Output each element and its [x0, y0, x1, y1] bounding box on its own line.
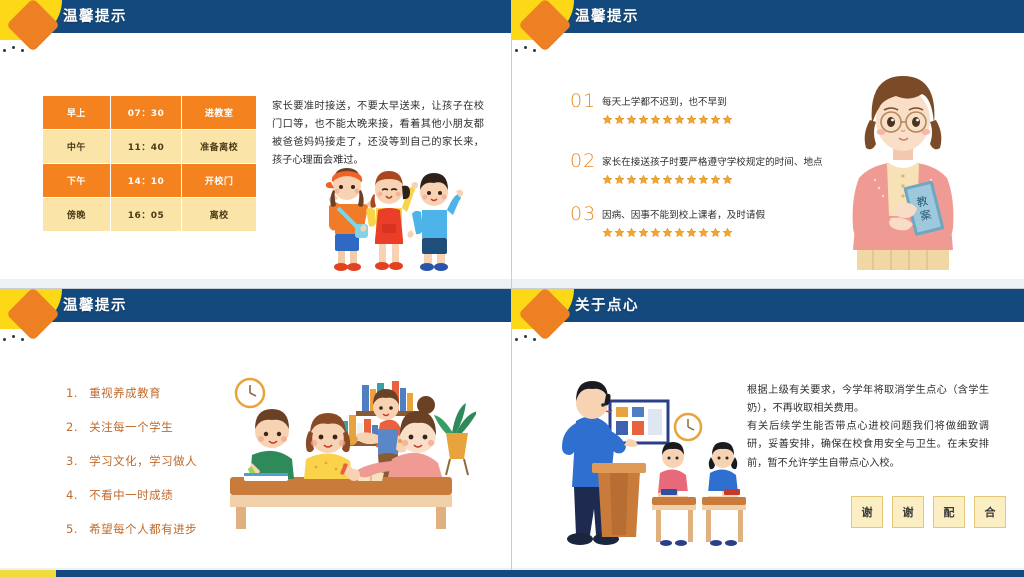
- table-row: 下午 14：10 开校门: [43, 164, 257, 198]
- list-item-number: 2.: [66, 420, 85, 434]
- cell-time: 16：05: [110, 198, 182, 232]
- cell-period: 下午: [43, 164, 111, 198]
- schedule-table: 早上 07：30 进教室 中午 11：40 准备离校 下午 14：10 开校门 …: [42, 95, 257, 232]
- snack-notice-paragraph: 根据上级有关要求，今学年将取消学生点心（含学生奶），不再收取相关费用。 有关后续…: [747, 382, 989, 473]
- strip-yellow-segment: [0, 570, 56, 577]
- cell-action: 离校: [182, 198, 257, 232]
- table-row: 中午 11：40 准备离校: [43, 130, 257, 164]
- header-dots-decoration: [3, 326, 30, 345]
- pickup-notice-paragraph: 家长要准时接送，不要太早送来，让孩子在校门口等，也不能太晚来接，看着其他小朋友都…: [272, 98, 484, 169]
- header-dots-decoration: [515, 326, 542, 345]
- list-item: 1. 重视养成教育: [66, 385, 197, 401]
- list-item-label: 不看中一时成绩: [89, 488, 173, 502]
- teacher-with-lesson-plan-illustration: 教 案: [843, 68, 963, 283]
- list-item-number: 1.: [66, 386, 85, 400]
- page-bottom-strip: [0, 570, 1024, 577]
- thanks-box: 配: [933, 496, 965, 528]
- thanks-boxes: 谢 谢 配 合: [851, 496, 1006, 528]
- slide-title: 温馨提示: [63, 294, 127, 315]
- list-item-number: 3.: [66, 454, 85, 468]
- cell-action: 开校门: [182, 164, 257, 198]
- star-row-03: [602, 224, 734, 240]
- thanks-box: 合: [974, 496, 1006, 528]
- cell-period: 早上: [43, 96, 111, 130]
- list-item: 3. 学习文化，学习做人: [66, 453, 197, 469]
- list-item-number: 4.: [66, 488, 85, 502]
- list-item-number: 5.: [66, 522, 85, 536]
- cell-period: 中午: [43, 130, 111, 164]
- thanks-box: 谢: [851, 496, 883, 528]
- rule-text: 每天上学都不迟到，也不早到: [602, 94, 727, 108]
- rule-number: 01: [570, 90, 596, 112]
- slide-education: 温馨提示 1. 重视养成教育 2. 关注每一个学生 3. 学习文化，学习做人 4…: [0, 289, 512, 577]
- rule-number: 02: [570, 150, 596, 172]
- teacher-lecturing-classroom-illustration: [548, 377, 753, 557]
- cell-time: 07：30: [110, 96, 182, 130]
- slide-footer-strip: [0, 279, 512, 288]
- star-row-01: [602, 111, 734, 127]
- cell-action: 进教室: [182, 96, 257, 130]
- slide-schedule: 温馨提示 早上 07：30 进教室 中午 11：40 准备离校 下午 14：10…: [0, 0, 512, 289]
- list-item: 2. 关注每一个学生: [66, 419, 197, 435]
- cell-time: 11：40: [110, 130, 182, 164]
- table-row: 早上 07：30 进教室: [43, 96, 257, 130]
- slide-title: 温馨提示: [63, 5, 127, 26]
- slide-footer-strip: [512, 279, 1024, 288]
- table-row: 傍晚 16：05 离校: [43, 198, 257, 232]
- list-item: 5. 希望每个人都有进步: [66, 521, 197, 537]
- slide-title: 温馨提示: [575, 5, 639, 26]
- teacher-and-students-studying-illustration: [228, 355, 476, 530]
- header-dots-decoration: [3, 37, 30, 56]
- list-item-label: 学习文化，学习做人: [89, 454, 197, 468]
- list-item-label: 希望每个人都有进步: [89, 522, 197, 536]
- three-children-illustration: [305, 160, 475, 275]
- cell-action: 准备离校: [182, 130, 257, 164]
- star-row-02: [602, 171, 734, 187]
- slide-snack: 关于点心 根据上级有关要求，今学年将取消学生点心（含学生奶），不再收取相关费用。…: [512, 289, 1024, 577]
- rule-text: 因病、因事不能到校上课者，及时请假: [602, 207, 765, 221]
- thanks-box: 谢: [892, 496, 924, 528]
- header-dots-decoration: [515, 37, 542, 56]
- rule-text: 家长在接送孩子时要严格遵守学校规定的时间、地点: [602, 154, 823, 168]
- cell-time: 14：10: [110, 164, 182, 198]
- education-list: 1. 重视养成教育 2. 关注每一个学生 3. 学习文化，学习做人 4. 不看中…: [66, 385, 197, 555]
- rule-number: 03: [570, 203, 596, 225]
- slide-deck: 温馨提示 早上 07：30 进教室 中午 11：40 准备离校 下午 14：10…: [0, 0, 1024, 577]
- slide-title: 关于点心: [575, 294, 639, 315]
- list-item-label: 重视养成教育: [89, 386, 161, 400]
- list-item: 4. 不看中一时成绩: [66, 487, 197, 503]
- slide-rules: 温馨提示 01 每天上学都不迟到，也不早到 02 家长在接送孩子时要严格遵守学校…: [512, 0, 1024, 289]
- list-item-label: 关注每一个学生: [89, 420, 173, 434]
- strip-blue-segment: [56, 570, 1024, 577]
- cell-period: 傍晚: [43, 198, 111, 232]
